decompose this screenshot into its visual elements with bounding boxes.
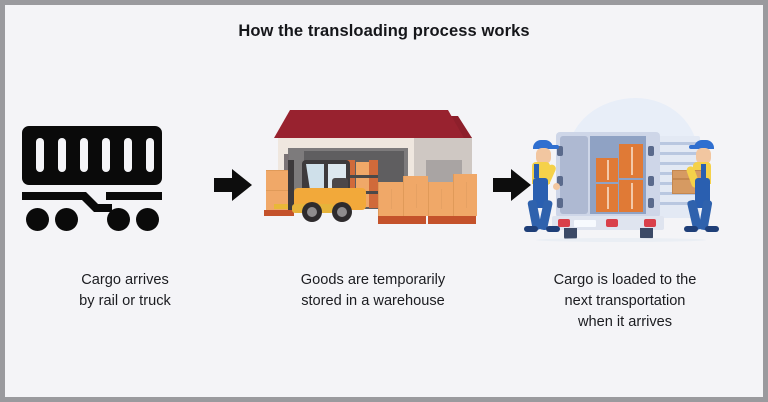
cardboard-box bbox=[378, 182, 403, 216]
worker-overall-strap bbox=[701, 164, 706, 178]
rail-container-car-icon bbox=[22, 126, 174, 231]
cargo-box bbox=[619, 144, 643, 178]
page-title: How the transloading process works bbox=[5, 22, 763, 41]
step-3-truck-loading: Cargo is loaded to the next transportati… bbox=[510, 90, 740, 340]
forklift-wheel-hub bbox=[337, 207, 347, 217]
worker-shoe bbox=[524, 226, 538, 232]
worker-shoe bbox=[684, 226, 698, 232]
container-slot bbox=[146, 138, 154, 172]
cargo-box bbox=[596, 158, 618, 182]
railcar-wheel bbox=[107, 208, 130, 231]
step-1-caption-line-1: Cargo arrives bbox=[10, 270, 240, 291]
step-3-caption: Cargo is loaded to the next transportati… bbox=[510, 270, 740, 333]
railcar-wheel bbox=[55, 208, 78, 231]
container-body bbox=[22, 126, 162, 185]
worker-shoe bbox=[546, 226, 560, 232]
container-slot bbox=[58, 138, 66, 172]
door-hinge bbox=[648, 198, 654, 208]
container-slot bbox=[36, 138, 44, 172]
step-1-illustration bbox=[10, 90, 240, 250]
container-slot bbox=[124, 138, 132, 172]
door-hinge bbox=[648, 146, 654, 156]
worker-cap-brim bbox=[548, 145, 559, 149]
worker-shoe bbox=[705, 226, 719, 232]
tail-light bbox=[606, 219, 618, 227]
step-3-caption-line-1: Cargo is loaded to the bbox=[510, 270, 740, 291]
cargo-box bbox=[596, 184, 618, 212]
step-1-cargo-arrives: Cargo arrives by rail or truck bbox=[10, 90, 240, 340]
tail-light bbox=[644, 219, 656, 227]
warehouse-roof bbox=[274, 110, 464, 138]
warehouse-pallet-stacks bbox=[378, 174, 478, 224]
cargo-box bbox=[619, 180, 643, 212]
forklift-wheel bbox=[332, 202, 352, 222]
arrow-right-icon bbox=[214, 168, 258, 202]
worker-hand bbox=[553, 183, 560, 190]
warehouse-illustration bbox=[266, 104, 480, 244]
pallet bbox=[428, 216, 476, 224]
door-hinge bbox=[648, 176, 654, 186]
container-slot bbox=[80, 138, 88, 172]
step-1-caption-line-2: by rail or truck bbox=[10, 291, 240, 312]
worker-right bbox=[676, 140, 722, 232]
step-3-illustration bbox=[510, 90, 740, 250]
step-3-caption-line-3: when it arrives bbox=[510, 312, 740, 333]
step-2-illustration bbox=[258, 90, 488, 250]
pallet bbox=[378, 216, 426, 224]
step-3-caption-line-2: next transportation bbox=[510, 291, 740, 312]
container-slot bbox=[102, 138, 110, 172]
step-2-caption-line-2: stored in a warehouse bbox=[258, 291, 488, 312]
step-1-caption: Cargo arrives by rail or truck bbox=[10, 270, 240, 312]
forklift-icon bbox=[288, 160, 374, 222]
forklift-wheel bbox=[302, 202, 322, 222]
infographic-canvas: How the transloading process works bbox=[0, 0, 768, 402]
cardboard-box bbox=[453, 174, 477, 216]
worker-left bbox=[522, 140, 568, 232]
railcar-wheel bbox=[136, 208, 159, 231]
ground-shadow bbox=[536, 238, 706, 242]
cardboard-box bbox=[428, 182, 453, 216]
step-2-caption: Goods are temporarily stored in a wareho… bbox=[258, 270, 488, 312]
arrow-head bbox=[232, 169, 252, 201]
chassis-bar-left bbox=[22, 192, 78, 200]
license-plate bbox=[574, 220, 596, 227]
worker-overall-strap bbox=[534, 164, 539, 178]
forklift-wheel-hub bbox=[307, 207, 317, 217]
step-2-warehouse-storage: Goods are temporarily stored in a wareho… bbox=[258, 90, 488, 340]
chassis-bar-right bbox=[106, 192, 162, 200]
railcar-wheel bbox=[26, 208, 49, 231]
step-2-caption-line-1: Goods are temporarily bbox=[258, 270, 488, 291]
truck-loading-illustration bbox=[516, 98, 734, 248]
cardboard-box bbox=[403, 176, 428, 216]
